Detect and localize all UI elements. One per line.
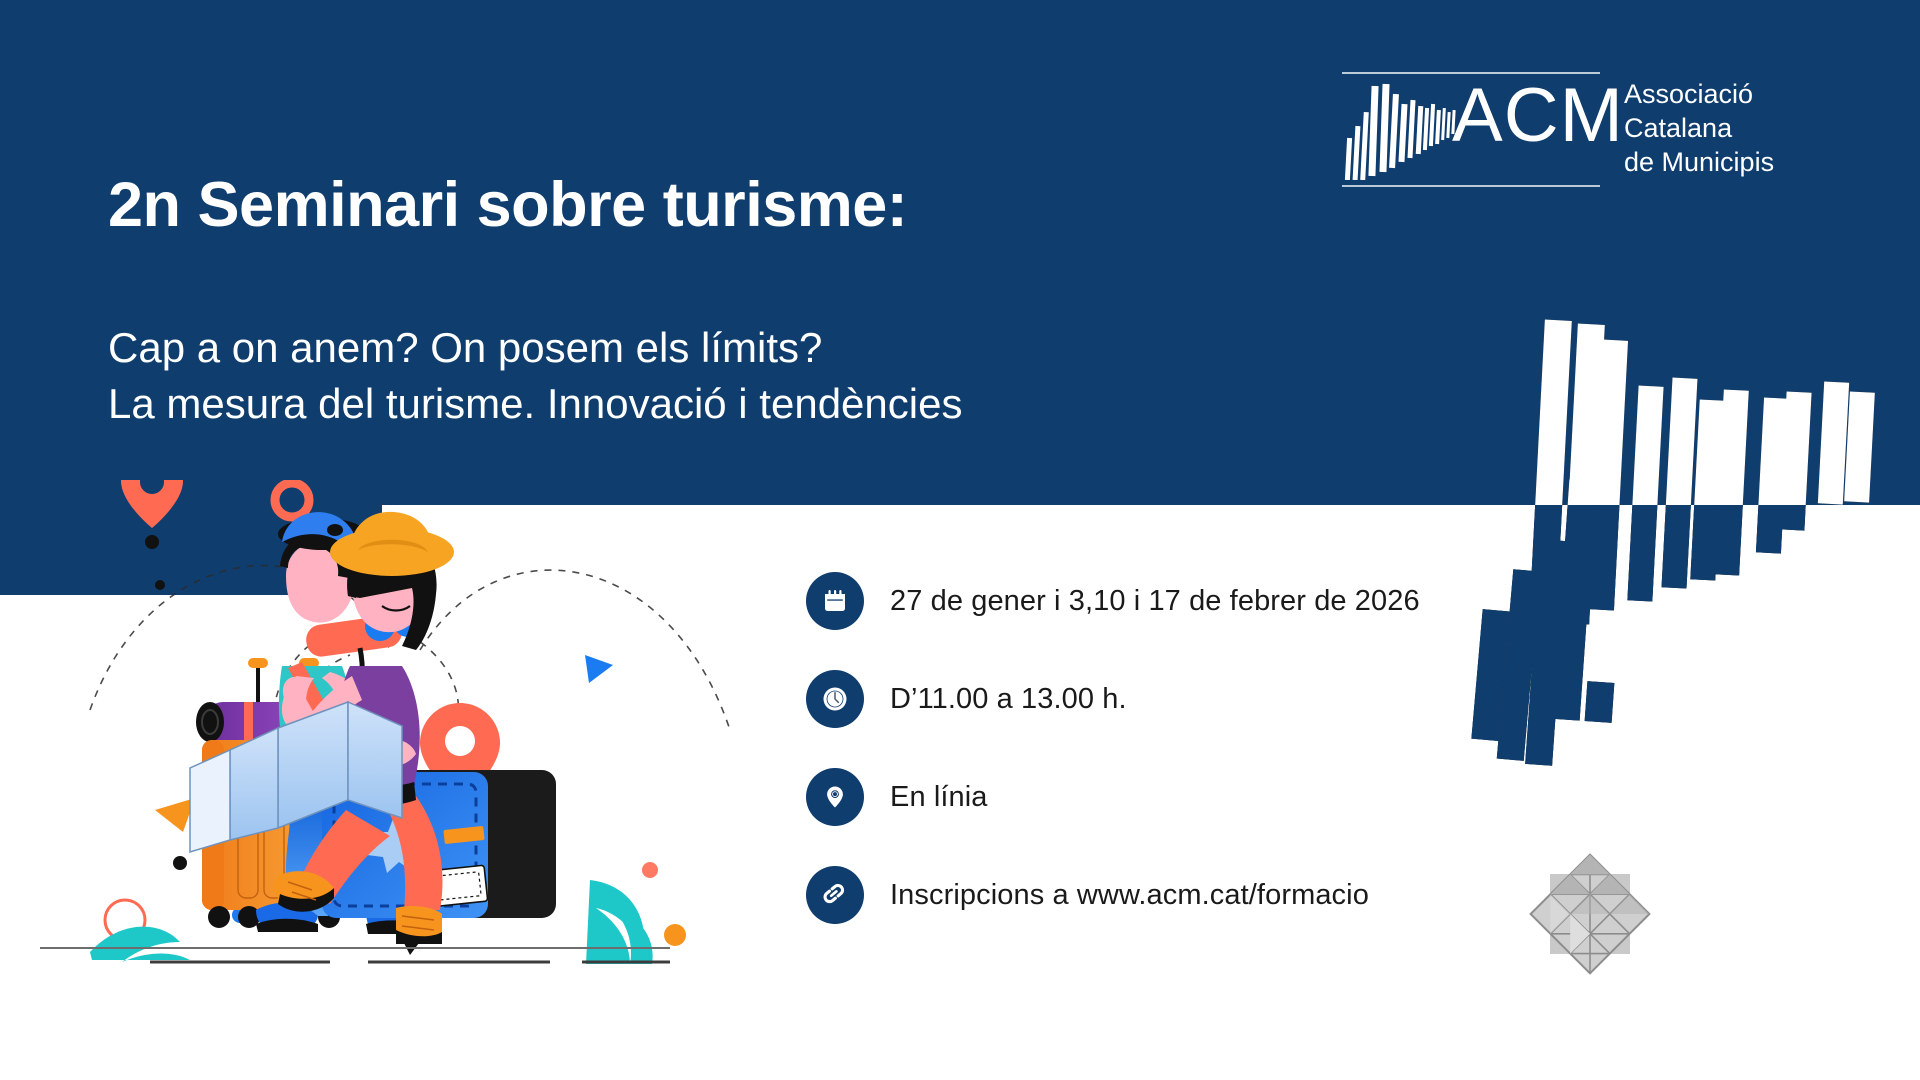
poster-canvas: ACM Associació Catalana de Municipis 2n … bbox=[0, 0, 1920, 1080]
detail-text-date: 27 de gener i 3,10 i 17 de febrer de 202… bbox=[890, 585, 1420, 618]
detail-row-date: 27 de gener i 3,10 i 17 de febrer de 202… bbox=[806, 552, 1420, 650]
page-title: 2n Seminari sobre turisme: bbox=[108, 172, 907, 238]
acm-bar-wave-mark bbox=[1344, 82, 1464, 180]
detail-row-location: En línia bbox=[806, 748, 1420, 846]
logo-rule-bottom bbox=[1342, 185, 1600, 187]
map-pin-decoration bbox=[121, 480, 183, 549]
event-details-list: 27 de gener i 3,10 i 17 de febrer de 202… bbox=[806, 552, 1420, 944]
page-subtitle: Cap a on anem? On posem els límits? La m… bbox=[108, 320, 962, 432]
acm-logo-mark: ACM bbox=[1342, 72, 1600, 187]
acm-organisation-name: Associació Catalana de Municipis bbox=[1624, 72, 1774, 179]
generalitat-diamond-emblem bbox=[1528, 852, 1652, 976]
acm-logo: ACM Associació Catalana de Municipis bbox=[1342, 72, 1774, 187]
travellers-illustration bbox=[30, 480, 830, 990]
acm-wordmark: ACM bbox=[1452, 78, 1624, 154]
bar-wave-graphic bbox=[1455, 300, 1920, 770]
detail-text-registration: Inscripcions a www.acm.cat/formacio bbox=[890, 879, 1369, 912]
detail-row-time: D’11.00 a 13.00 h. bbox=[806, 650, 1420, 748]
detail-text-time: D’11.00 a 13.00 h. bbox=[890, 683, 1127, 716]
detail-row-registration: Inscripcions a www.acm.cat/formacio bbox=[806, 846, 1420, 944]
detail-text-location: En línia bbox=[890, 781, 988, 814]
